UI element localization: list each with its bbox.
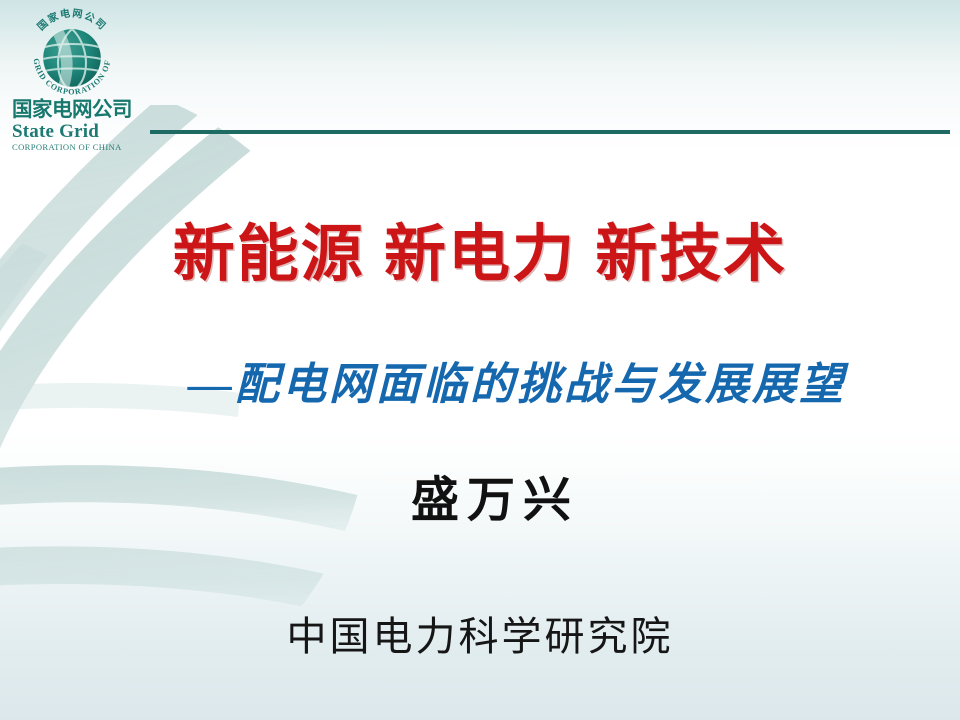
header-divider-rule — [150, 130, 950, 134]
state-grid-globe-emblem-icon: 国家电网公司 STATE GRID CORPORATION OF CHINA — [24, 8, 120, 104]
slide-subtitle: —配电网面临的挑战与发展展望 — [0, 348, 960, 412]
slide-author-name: 盛万兴 — [0, 460, 960, 530]
presentation-slide: 国家电网公司 STATE GRID CORPORATION OF CHINA 国… — [0, 0, 960, 720]
state-grid-logo: 国家电网公司 STATE GRID CORPORATION OF CHINA 国… — [10, 8, 150, 153]
logo-name-en: State Grid — [12, 122, 152, 141]
logo-name-en-sub: CORPORATION OF CHINA — [12, 143, 152, 152]
logo-wordmark: 国家电网公司 State Grid CORPORATION OF CHINA — [12, 100, 152, 151]
logo-name-cn: 国家电网公司 — [12, 100, 152, 121]
slide-institution: 中国电力科学研究院 — [0, 604, 960, 662]
slide-main-title: 新能源 新电力 新技术 — [0, 222, 960, 289]
